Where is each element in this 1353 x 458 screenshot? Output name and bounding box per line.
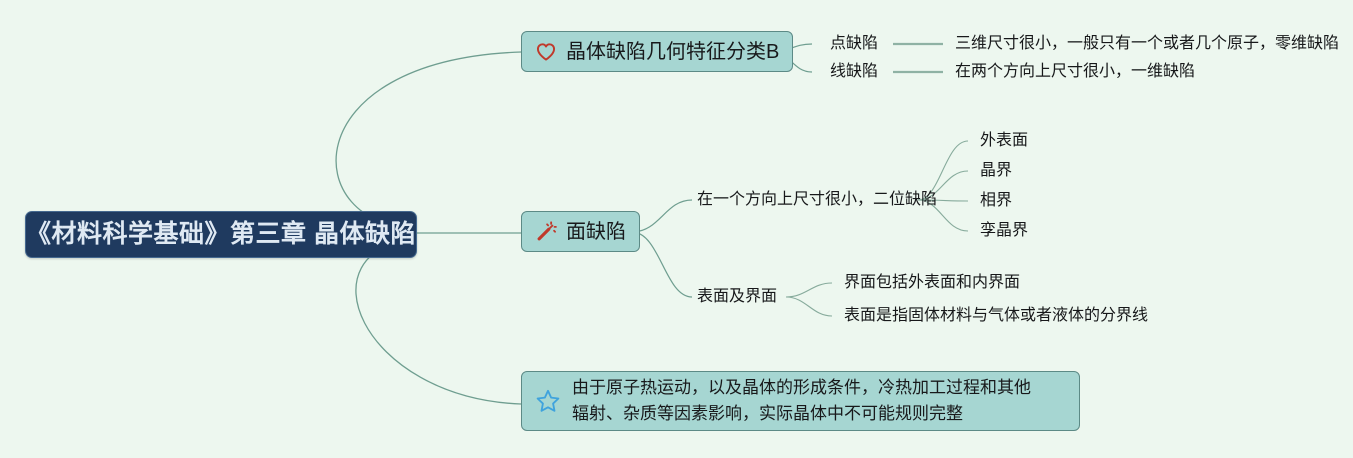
star-icon bbox=[535, 388, 561, 414]
label-line-defect: 线缺陷 bbox=[830, 64, 878, 80]
leaf-twin-boundary: 孪晶界 bbox=[980, 223, 1028, 239]
magic-wand-icon bbox=[535, 221, 557, 243]
branch-node-geometric-classification-label: 晶体缺陷几何特征分类B bbox=[566, 42, 779, 62]
leaf-grain-boundary: 晶界 bbox=[980, 163, 1012, 179]
leaf-surface-definition: 表面是指固体材料与气体或者液体的分界线 bbox=[844, 308, 1148, 324]
leaf-outer-surface: 外表面 bbox=[980, 133, 1028, 149]
heart-icon bbox=[535, 41, 557, 63]
detail-point-defect: 三维尺寸很小，一般只有一个或者几个原子，零维缺陷 bbox=[955, 36, 1339, 52]
branch-node-note-label: 由于原子热运动，以及晶体的形成条件，冷热加工过程和其他 辐射、杂质等因素影响，实… bbox=[572, 375, 1031, 428]
label-point-defect: 点缺陷 bbox=[830, 36, 878, 52]
mindmap-canvas: 《材料科学基础》第三章 晶体缺陷 晶体缺陷几何特征分类B 点缺陷 线缺陷 三维尺… bbox=[0, 0, 1353, 458]
label-two-dimensional-defect: 在一个方向上尺寸很小，二位缺陷 bbox=[697, 192, 937, 208]
branch-node-surface-defect[interactable]: 面缺陷 bbox=[521, 211, 640, 252]
branch-node-note[interactable]: 由于原子热运动，以及晶体的形成条件，冷热加工过程和其他 辐射、杂质等因素影响，实… bbox=[521, 371, 1080, 431]
leaf-interface-includes: 界面包括外表面和内界面 bbox=[844, 275, 1020, 291]
root-node[interactable]: 《材料科学基础》第三章 晶体缺陷 bbox=[25, 211, 417, 258]
label-surface-and-interface: 表面及界面 bbox=[697, 289, 777, 305]
detail-line-defect: 在两个方向上尺寸很小，一维缺陷 bbox=[955, 64, 1195, 80]
leaf-phase-boundary: 相界 bbox=[980, 193, 1012, 209]
branch-node-surface-defect-label: 面缺陷 bbox=[566, 222, 626, 242]
root-node-label: 《材料科学基础》第三章 晶体缺陷 bbox=[26, 222, 416, 247]
branch-node-geometric-classification[interactable]: 晶体缺陷几何特征分类B bbox=[521, 31, 793, 72]
